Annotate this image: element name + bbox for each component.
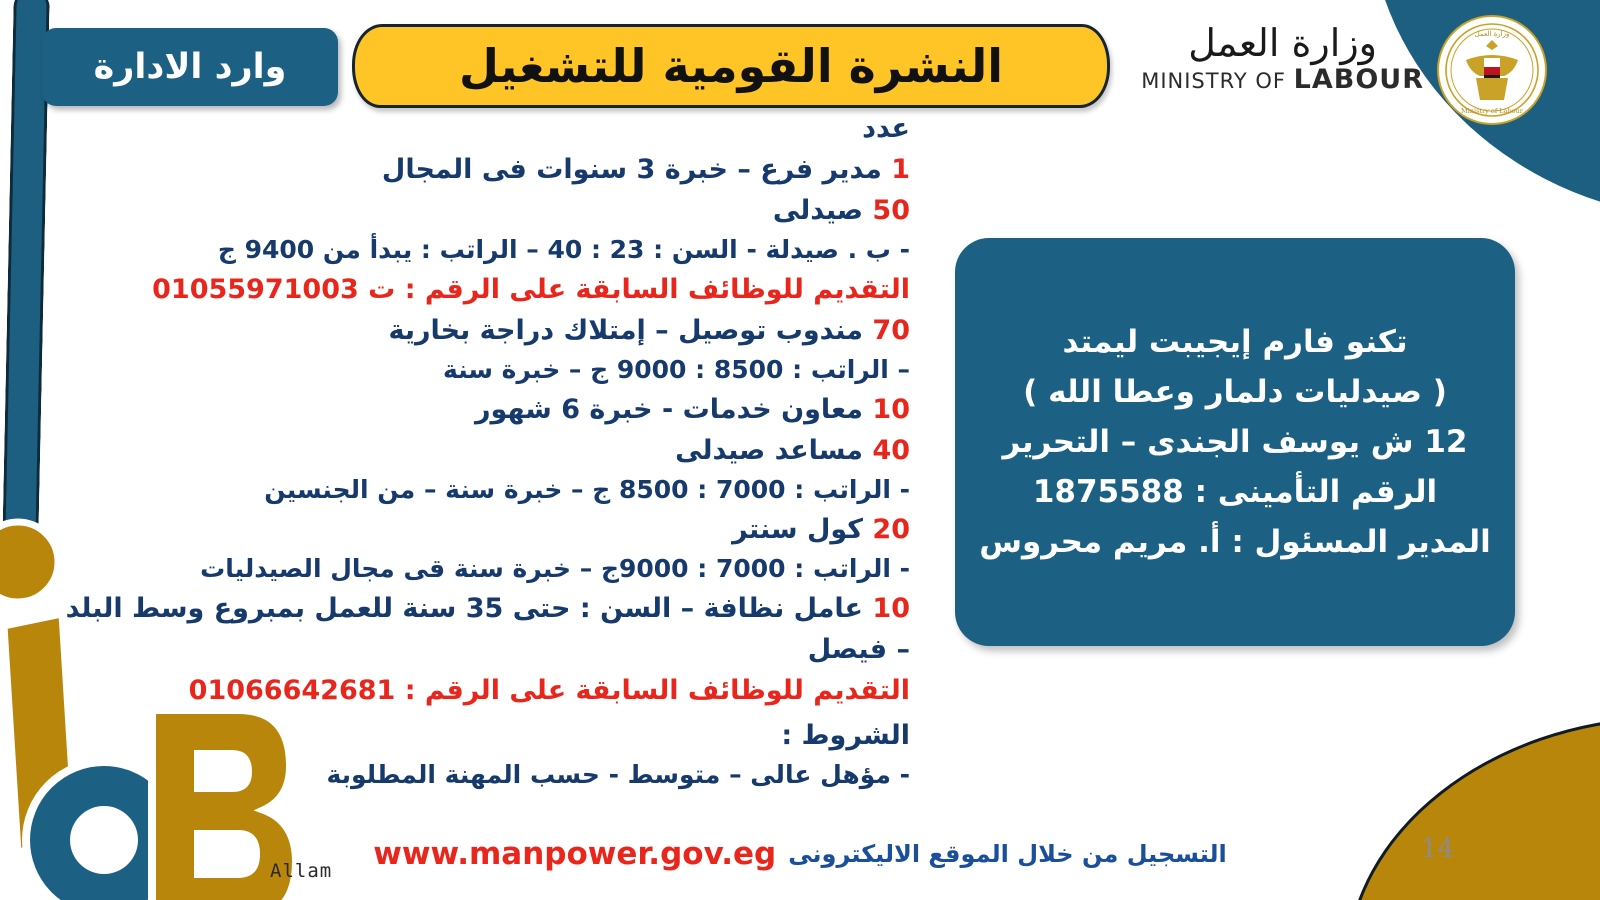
- job-description: التقديم للوظائف السابقة على الرقم : ت 01…: [152, 274, 910, 305]
- job-row: 10 عامل نظافة – السن : حتى 35 سنة للعمل …: [50, 588, 910, 670]
- job-description: صيدلى: [773, 195, 863, 226]
- job-quantity: 50: [863, 195, 910, 226]
- job-description: - الراتب : 7000 : 9000ج – خبرة سنة قى مج…: [200, 554, 910, 583]
- job-description: مدير فرع – خبرة 3 سنوات فى المجال: [382, 154, 882, 185]
- incoming-administration-badge: وارد الادارة: [42, 28, 338, 106]
- conditions-container: - مؤهل عالى – متوسط - حسب المهنة المطلوب…: [50, 756, 910, 794]
- footer-bar: التسجيل من خلال الموقع الاليكترونى www.m…: [0, 836, 1600, 872]
- count-column-header: عدد: [50, 108, 910, 149]
- job-description: كول سنتر: [732, 514, 863, 545]
- page-title: النشرة القومية للتشغيل: [459, 39, 1003, 93]
- job-description: معاون خدمات - خبرة 6 شهور: [475, 394, 863, 425]
- author-watermark: Allam: [270, 860, 332, 882]
- job-description: - الراتب : 7000 : 8500 ج – خبرة سنة – من…: [264, 475, 910, 504]
- job-quantity: 20: [863, 514, 910, 545]
- employer-line: 12 ش يوسف الجندى – التحرير: [1003, 424, 1468, 460]
- ministry-en-prefix: MINISTRY OF: [1141, 69, 1293, 93]
- job-row: 20 كول سنتر: [50, 509, 910, 550]
- employer-info-box: تكنو فارم إيجيبت ليمتد ( صيدليات دلمار و…: [955, 238, 1515, 646]
- ministry-logo-text: وزارة العمل MINISTRY OF LABOUR: [1141, 24, 1424, 95]
- condition-item: - مؤهل عالى – متوسط - حسب المهنة المطلوب…: [50, 756, 910, 794]
- ministry-emblem-icon: وزارة العمل Ministry of Labour: [1436, 14, 1548, 126]
- bulletin-title-banner: النشرة القومية للتشغيل: [352, 24, 1110, 108]
- job-row: التقديم للوظائف السابقة على الرقم : 0106…: [50, 670, 910, 711]
- job-quantity: 70: [863, 315, 910, 346]
- svg-text:وزارة العمل: وزارة العمل: [1475, 30, 1510, 38]
- job-description: التقديم للوظائف السابقة على الرقم : 0106…: [189, 675, 910, 706]
- page-number: 14: [1421, 834, 1454, 864]
- job-listing: عدد 1 مدير فرع – خبرة 3 سنوات فى المجال5…: [50, 108, 910, 794]
- ministry-name-english: MINISTRY OF LABOUR: [1141, 64, 1424, 95]
- job-description: – الراتب : 8500 : 9000 ج – خبرة سنة: [443, 355, 910, 384]
- job-quantity: 10: [863, 394, 910, 425]
- website-link[interactable]: www.manpower.gov.eg: [373, 836, 776, 872]
- job-row: 70 مندوب توصيل – إمتلاك دراجة بخارية: [50, 310, 910, 351]
- job-description: عامل نظافة – السن : حتى 35 سنة للعمل بمب…: [66, 593, 910, 665]
- job-row: - الراتب : 7000 : 9000ج – خبرة سنة قى مج…: [50, 550, 910, 588]
- job-description: - ب . صيدلة - السن : 23 : 40 – الراتب : …: [218, 235, 910, 264]
- job-row: التقديم للوظائف السابقة على الرقم : ت 01…: [50, 269, 910, 310]
- bottom-right-corner-decoration: [1323, 719, 1600, 900]
- job-quantity: 1: [882, 154, 910, 185]
- job-row: 40 مساعد صيدلى: [50, 430, 910, 471]
- employer-line: الرقم التأمينى : 1875588: [1033, 474, 1437, 510]
- job-row: - ب . صيدلة - السن : 23 : 40 – الراتب : …: [50, 231, 910, 269]
- conditions-title: الشروط :: [50, 711, 910, 756]
- employer-line: ( صيدليات دلمار وعطا الله ): [1023, 374, 1447, 410]
- svg-text:Ministry of Labour: Ministry of Labour: [1461, 107, 1524, 115]
- job-row: 1 مدير فرع – خبرة 3 سنوات فى المجال: [50, 149, 910, 190]
- employer-line: المدير المسئول : أ. مريم محروس: [979, 524, 1491, 560]
- job-rows-container: 1 مدير فرع – خبرة 3 سنوات فى المجال50 صي…: [50, 149, 910, 711]
- job-quantity: 40: [863, 435, 910, 466]
- job-quantity: 10: [863, 593, 910, 624]
- job-description: مساعد صيدلى: [675, 435, 863, 466]
- register-online-label: التسجيل من خلال الموقع الاليكترونى: [788, 840, 1226, 868]
- job-row: - الراتب : 7000 : 8500 ج – خبرة سنة – من…: [50, 471, 910, 509]
- employer-line: تكنو فارم إيجيبت ليمتد: [1063, 324, 1408, 360]
- ministry-name-arabic: وزارة العمل: [1141, 24, 1424, 62]
- ministry-en-main: LABOUR: [1294, 64, 1424, 95]
- job-description: مندوب توصيل – إمتلاك دراجة بخارية: [388, 315, 863, 346]
- job-row: 50 صيدلى: [50, 190, 910, 231]
- slide-canvas: Allam وارد الادارة النشرة القومية للتشغي…: [0, 0, 1600, 900]
- job-row: 10 معاون خدمات - خبرة 6 شهور: [50, 389, 910, 430]
- job-row: – الراتب : 8500 : 9000 ج – خبرة سنة: [50, 351, 910, 389]
- incoming-administration-label: وارد الادارة: [94, 47, 287, 87]
